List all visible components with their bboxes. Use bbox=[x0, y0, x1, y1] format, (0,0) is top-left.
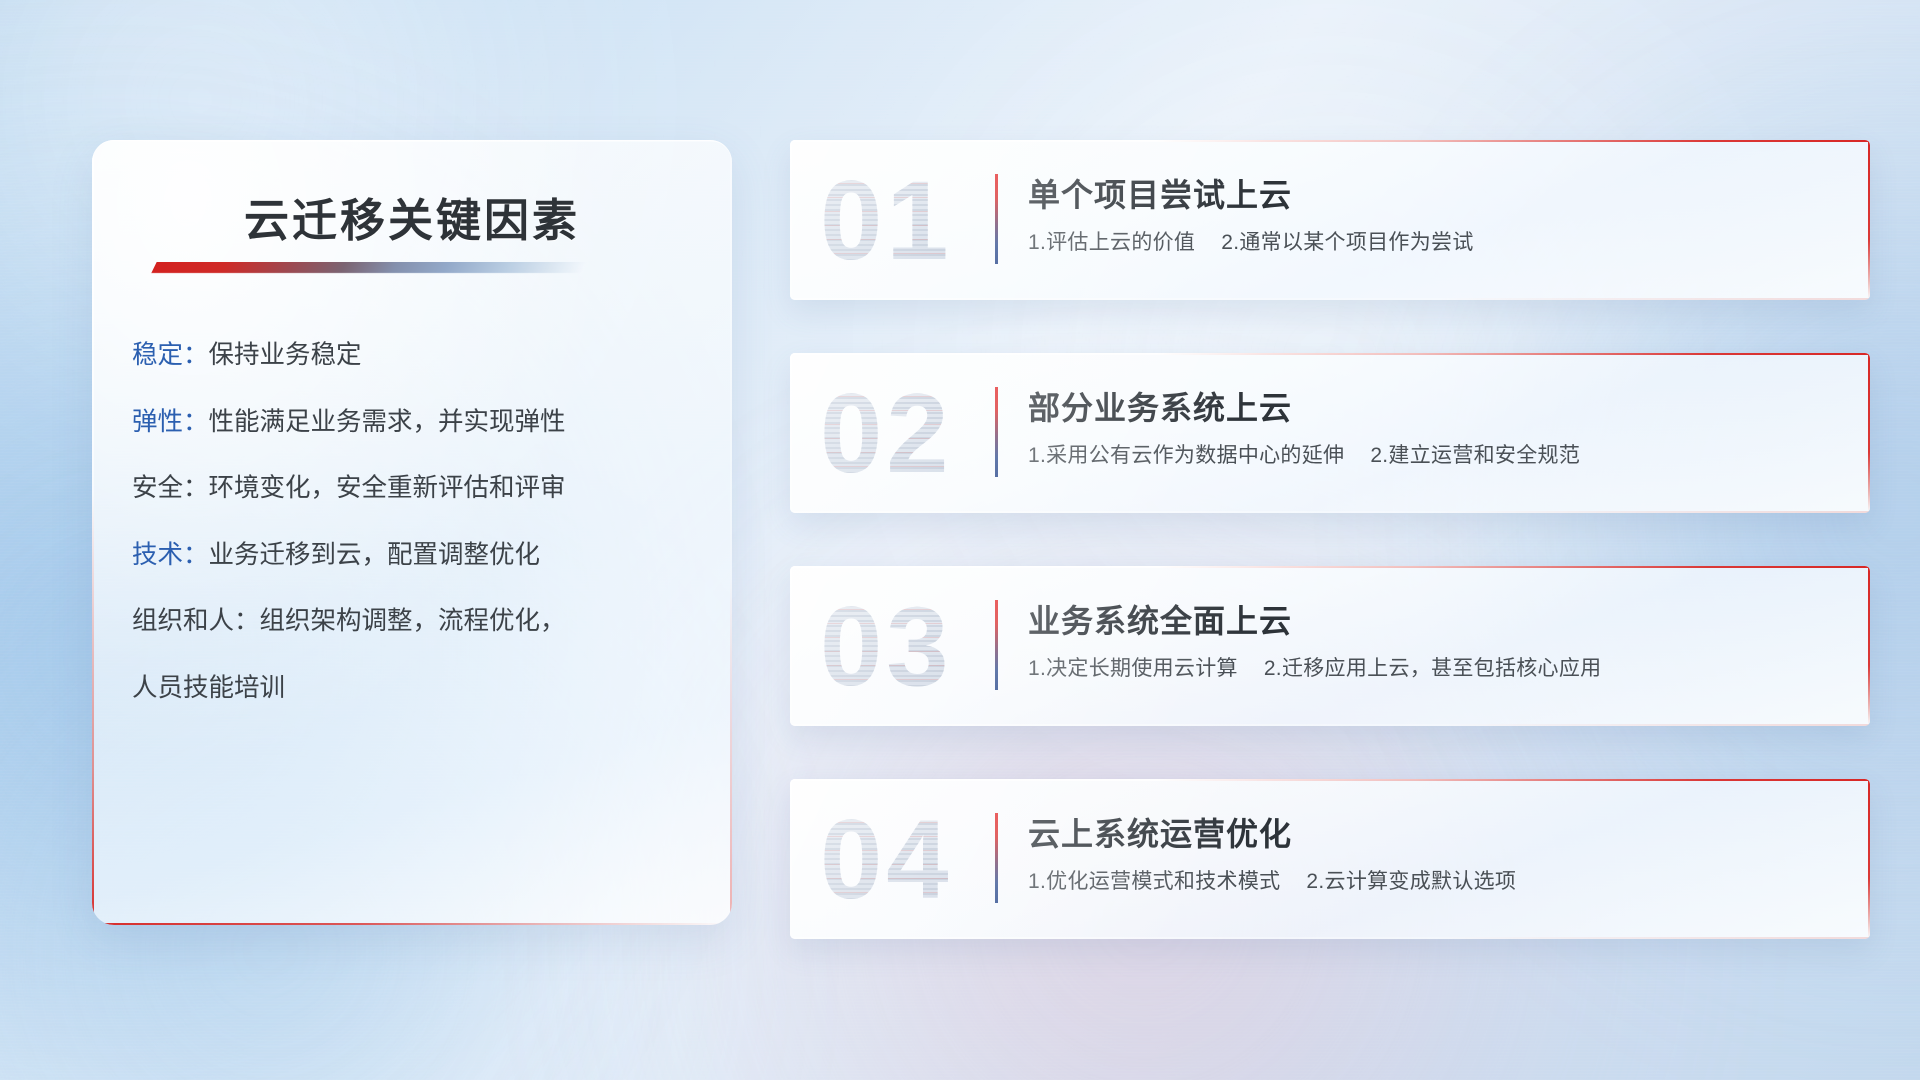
title-underline-accent bbox=[151, 262, 586, 273]
step-divider-accent bbox=[995, 813, 998, 903]
panel-edge-left bbox=[92, 140, 94, 925]
card-edge-right bbox=[1868, 353, 1870, 513]
step-card-02[interactable]: 02 02 部分业务系统上云 1.采用公有云作为数据中心的延伸2.建立运营和安全… bbox=[790, 353, 1870, 513]
card-edge-bottom bbox=[790, 511, 1870, 513]
step-card-04[interactable]: 04 04 云上系统运营优化 1.优化运营模式和技术模式2.云计算变成默认选项 bbox=[790, 779, 1870, 939]
list-item: 技术：业务迁移到云，配置调整优化 bbox=[132, 540, 692, 571]
panel-edge-right bbox=[730, 140, 732, 925]
step-card-03[interactable]: 03 03 业务系统全面上云 1.决定长期使用云计算2.迁移应用上云，甚至包括核… bbox=[790, 566, 1870, 726]
factor-label: 安全： bbox=[132, 474, 209, 502]
list-item: 组织和人：组织架构调整，流程优化， bbox=[132, 606, 692, 637]
factor-text: 性能满足业务需求，并实现弹性 bbox=[209, 408, 566, 436]
step-divider-accent bbox=[995, 174, 998, 264]
card-edge-top bbox=[790, 353, 1870, 355]
step-point-2: 2.云计算变成默认选项 bbox=[1306, 870, 1516, 893]
step-point-2: 2.迁移应用上云，甚至包括核心应用 bbox=[1264, 657, 1602, 680]
card-edge-right bbox=[1868, 140, 1870, 300]
factor-label: 技术： bbox=[132, 541, 209, 569]
card-edge-bottom bbox=[790, 724, 1870, 726]
step-subtitle: 1.评估上云的价值2.通常以某个项目作为尝试 bbox=[1028, 226, 1474, 256]
panel-edge-top bbox=[92, 140, 732, 142]
step-title: 部分业务系统上云 bbox=[1028, 383, 1292, 429]
page-title: 云迁移关键因素 bbox=[92, 184, 732, 249]
card-edge-bottom bbox=[790, 937, 1870, 939]
step-title: 业务系统全面上云 bbox=[1028, 596, 1292, 642]
factor-text: 业务迁移到云，配置调整优化 bbox=[209, 541, 541, 569]
card-edge-bottom bbox=[790, 298, 1870, 300]
factor-text: 保持业务稳定 bbox=[209, 341, 362, 369]
key-factors-panel: 云迁移关键因素 稳定：保持业务稳定 弹性：性能满足业务需求，并实现弹性 安全：环… bbox=[92, 140, 732, 925]
step-title: 单个项目尝试上云 bbox=[1028, 170, 1292, 216]
step-subtitle: 1.决定长期使用云计算2.迁移应用上云，甚至包括核心应用 bbox=[1028, 652, 1601, 682]
step-number-watermark-tint: 01 bbox=[820, 146, 953, 296]
step-card-01[interactable]: 01 01 单个项目尝试上云 1.评估上云的价值2.通常以某个项目作为尝试 bbox=[790, 140, 1870, 300]
step-point-1: 1.评估上云的价值 bbox=[1028, 231, 1195, 254]
factor-text: 环境变化，安全重新评估和评审 bbox=[209, 474, 566, 502]
step-point-2: 2.通常以某个项目作为尝试 bbox=[1221, 231, 1473, 254]
panel-edge-bottom bbox=[92, 923, 732, 925]
step-point-1: 1.决定长期使用云计算 bbox=[1028, 657, 1238, 680]
list-item: 安全：环境变化，安全重新评估和评审 bbox=[132, 473, 692, 504]
card-edge-top bbox=[790, 779, 1870, 781]
card-edge-top bbox=[790, 140, 1870, 142]
factor-label: 组织和人： bbox=[132, 607, 260, 635]
card-edge-left bbox=[790, 353, 792, 513]
list-item: 稳定：保持业务稳定 bbox=[132, 340, 692, 371]
card-edge-left bbox=[790, 779, 792, 939]
factor-label: 弹性： bbox=[132, 408, 209, 436]
factor-text: 组织架构调整，流程优化， bbox=[260, 607, 566, 635]
factor-label: 稳定： bbox=[132, 341, 209, 369]
step-point-2: 2.建立运营和安全规范 bbox=[1370, 444, 1580, 467]
card-edge-right bbox=[1868, 779, 1870, 939]
step-number-watermark-tint: 02 bbox=[820, 359, 953, 509]
step-divider-accent bbox=[995, 600, 998, 690]
step-number-watermark-tint: 03 bbox=[820, 572, 953, 722]
step-number-watermark-tint: 04 bbox=[820, 785, 953, 935]
step-divider-accent bbox=[995, 387, 998, 477]
step-subtitle: 1.采用公有云作为数据中心的延伸2.建立运营和安全规范 bbox=[1028, 439, 1580, 469]
card-edge-top bbox=[790, 566, 1870, 568]
list-item: 人员技能培训 bbox=[132, 673, 692, 704]
step-point-1: 1.优化运营模式和技术模式 bbox=[1028, 870, 1280, 893]
card-edge-left bbox=[790, 566, 792, 726]
list-item: 弹性：性能满足业务需求，并实现弹性 bbox=[132, 407, 692, 438]
key-factors-list: 稳定：保持业务稳定 弹性：性能满足业务需求，并实现弹性 安全：环境变化，安全重新… bbox=[132, 340, 692, 704]
factor-text: 人员技能培训 bbox=[132, 674, 285, 702]
step-title: 云上系统运营优化 bbox=[1028, 809, 1292, 855]
card-edge-left bbox=[790, 140, 792, 300]
step-subtitle: 1.优化运营模式和技术模式2.云计算变成默认选项 bbox=[1028, 865, 1516, 895]
card-edge-right bbox=[1868, 566, 1870, 726]
step-point-1: 1.采用公有云作为数据中心的延伸 bbox=[1028, 444, 1344, 467]
